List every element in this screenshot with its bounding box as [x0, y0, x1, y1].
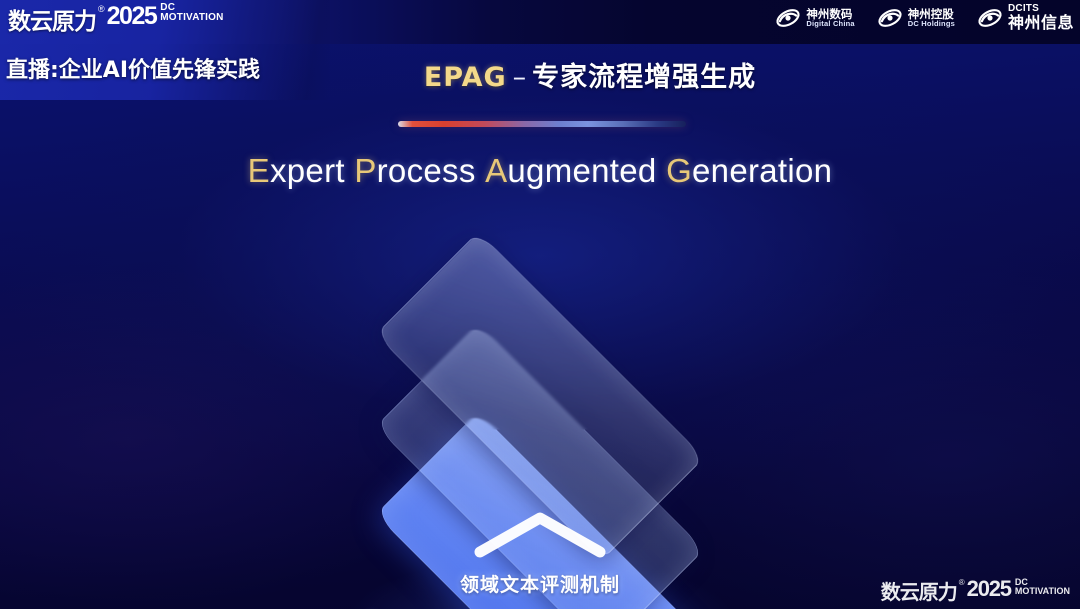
subtitle-cap-p: P — [354, 152, 376, 189]
slide-canvas: 数云原力 ® 2025 DC MOTIVATION 直播:企业AI价值先锋实践 … — [0, 0, 1080, 609]
event-logo-motivation: MOTIVATION — [160, 13, 223, 23]
footer-watermark-logo: 数云原力 ® 2025 DC MOTIVATION — [881, 576, 1070, 605]
partner-logo-dcits: DCITS 神州信息 — [977, 4, 1074, 31]
partner-name-cn: 神州信息 — [1008, 15, 1074, 32]
subtitle-rest-generation: eneration — [692, 152, 832, 189]
subtitle-rest-expert: xpert — [270, 152, 345, 189]
title-dash: – — [513, 62, 527, 93]
partner-logo-text: DCITS 神州信息 — [1008, 4, 1074, 31]
subtitle-cap-g: G — [666, 152, 692, 189]
footer-logo-dc-motivation: DC MOTIVATION — [1015, 578, 1070, 596]
subtitle-cap-e: E — [248, 152, 270, 189]
diagram-label-top: 领域文本评测机制 — [460, 570, 620, 597]
footer-logo-cn: 数云原力 — [881, 576, 957, 605]
title-chinese: 专家流程增强生成 — [532, 62, 756, 93]
english-subtitle: Expert Process Augmented Generation — [0, 152, 1080, 190]
event-logo-dc-motivation: DC MOTIVATION — [160, 3, 223, 23]
live-broadcast-title: 直播:企业AI价值先锋实践 — [6, 52, 260, 84]
event-logo-registered: ® — [98, 4, 105, 14]
partner-name-en: Digital China — [806, 20, 854, 28]
chevron-up-icon — [470, 508, 610, 560]
event-logo-cn: 数云原力 — [8, 2, 96, 36]
partner-logo-text: 神州数码 Digital China — [806, 8, 854, 28]
partner-name-cn: 神州数码 — [806, 8, 854, 20]
title-acronym: EPAG — [424, 62, 507, 93]
footer-logo-registered: ® — [959, 578, 965, 587]
partner-logo-group: 神州数码 Digital China 神州控股 DC Holdings — [775, 4, 1074, 31]
footer-logo-motivation: MOTIVATION — [1015, 587, 1070, 596]
subtitle-rest-process: rocess — [377, 152, 476, 189]
partner-logo-digital-china: 神州数码 Digital China — [775, 5, 854, 31]
event-logo: 数云原力 ® 2025 DC MOTIVATION — [8, 2, 224, 36]
partner-name-cn: 神州控股 — [908, 8, 955, 20]
footer-logo-year: 2025 — [967, 576, 1011, 602]
swirl-logo-icon — [775, 5, 801, 31]
swirl-logo-icon — [977, 5, 1003, 31]
swirl-logo-icon — [877, 5, 903, 31]
subtitle-space-1 — [345, 152, 354, 189]
partner-logo-text: 神州控股 DC Holdings — [908, 8, 955, 28]
partner-logo-dc-holdings: 神州控股 DC Holdings — [877, 5, 955, 31]
subtitle-space-3 — [657, 152, 666, 189]
layer-stack-diagram: 领域文本评测机制 Dynamic MOE 长文本记忆 三类语义建模模块 — [280, 236, 800, 576]
subtitle-space-2 — [476, 152, 485, 189]
event-logo-year: 2025 — [107, 2, 157, 31]
title-divider — [398, 121, 686, 127]
subtitle-rest-augmented: ugmented — [507, 152, 656, 189]
partner-name-en: DC Holdings — [908, 20, 955, 28]
brand-banner: 数云原力 ® 2025 DC MOTIVATION 直播:企业AI价值先锋实践 — [0, 0, 330, 100]
subtitle-cap-a: A — [485, 152, 507, 189]
